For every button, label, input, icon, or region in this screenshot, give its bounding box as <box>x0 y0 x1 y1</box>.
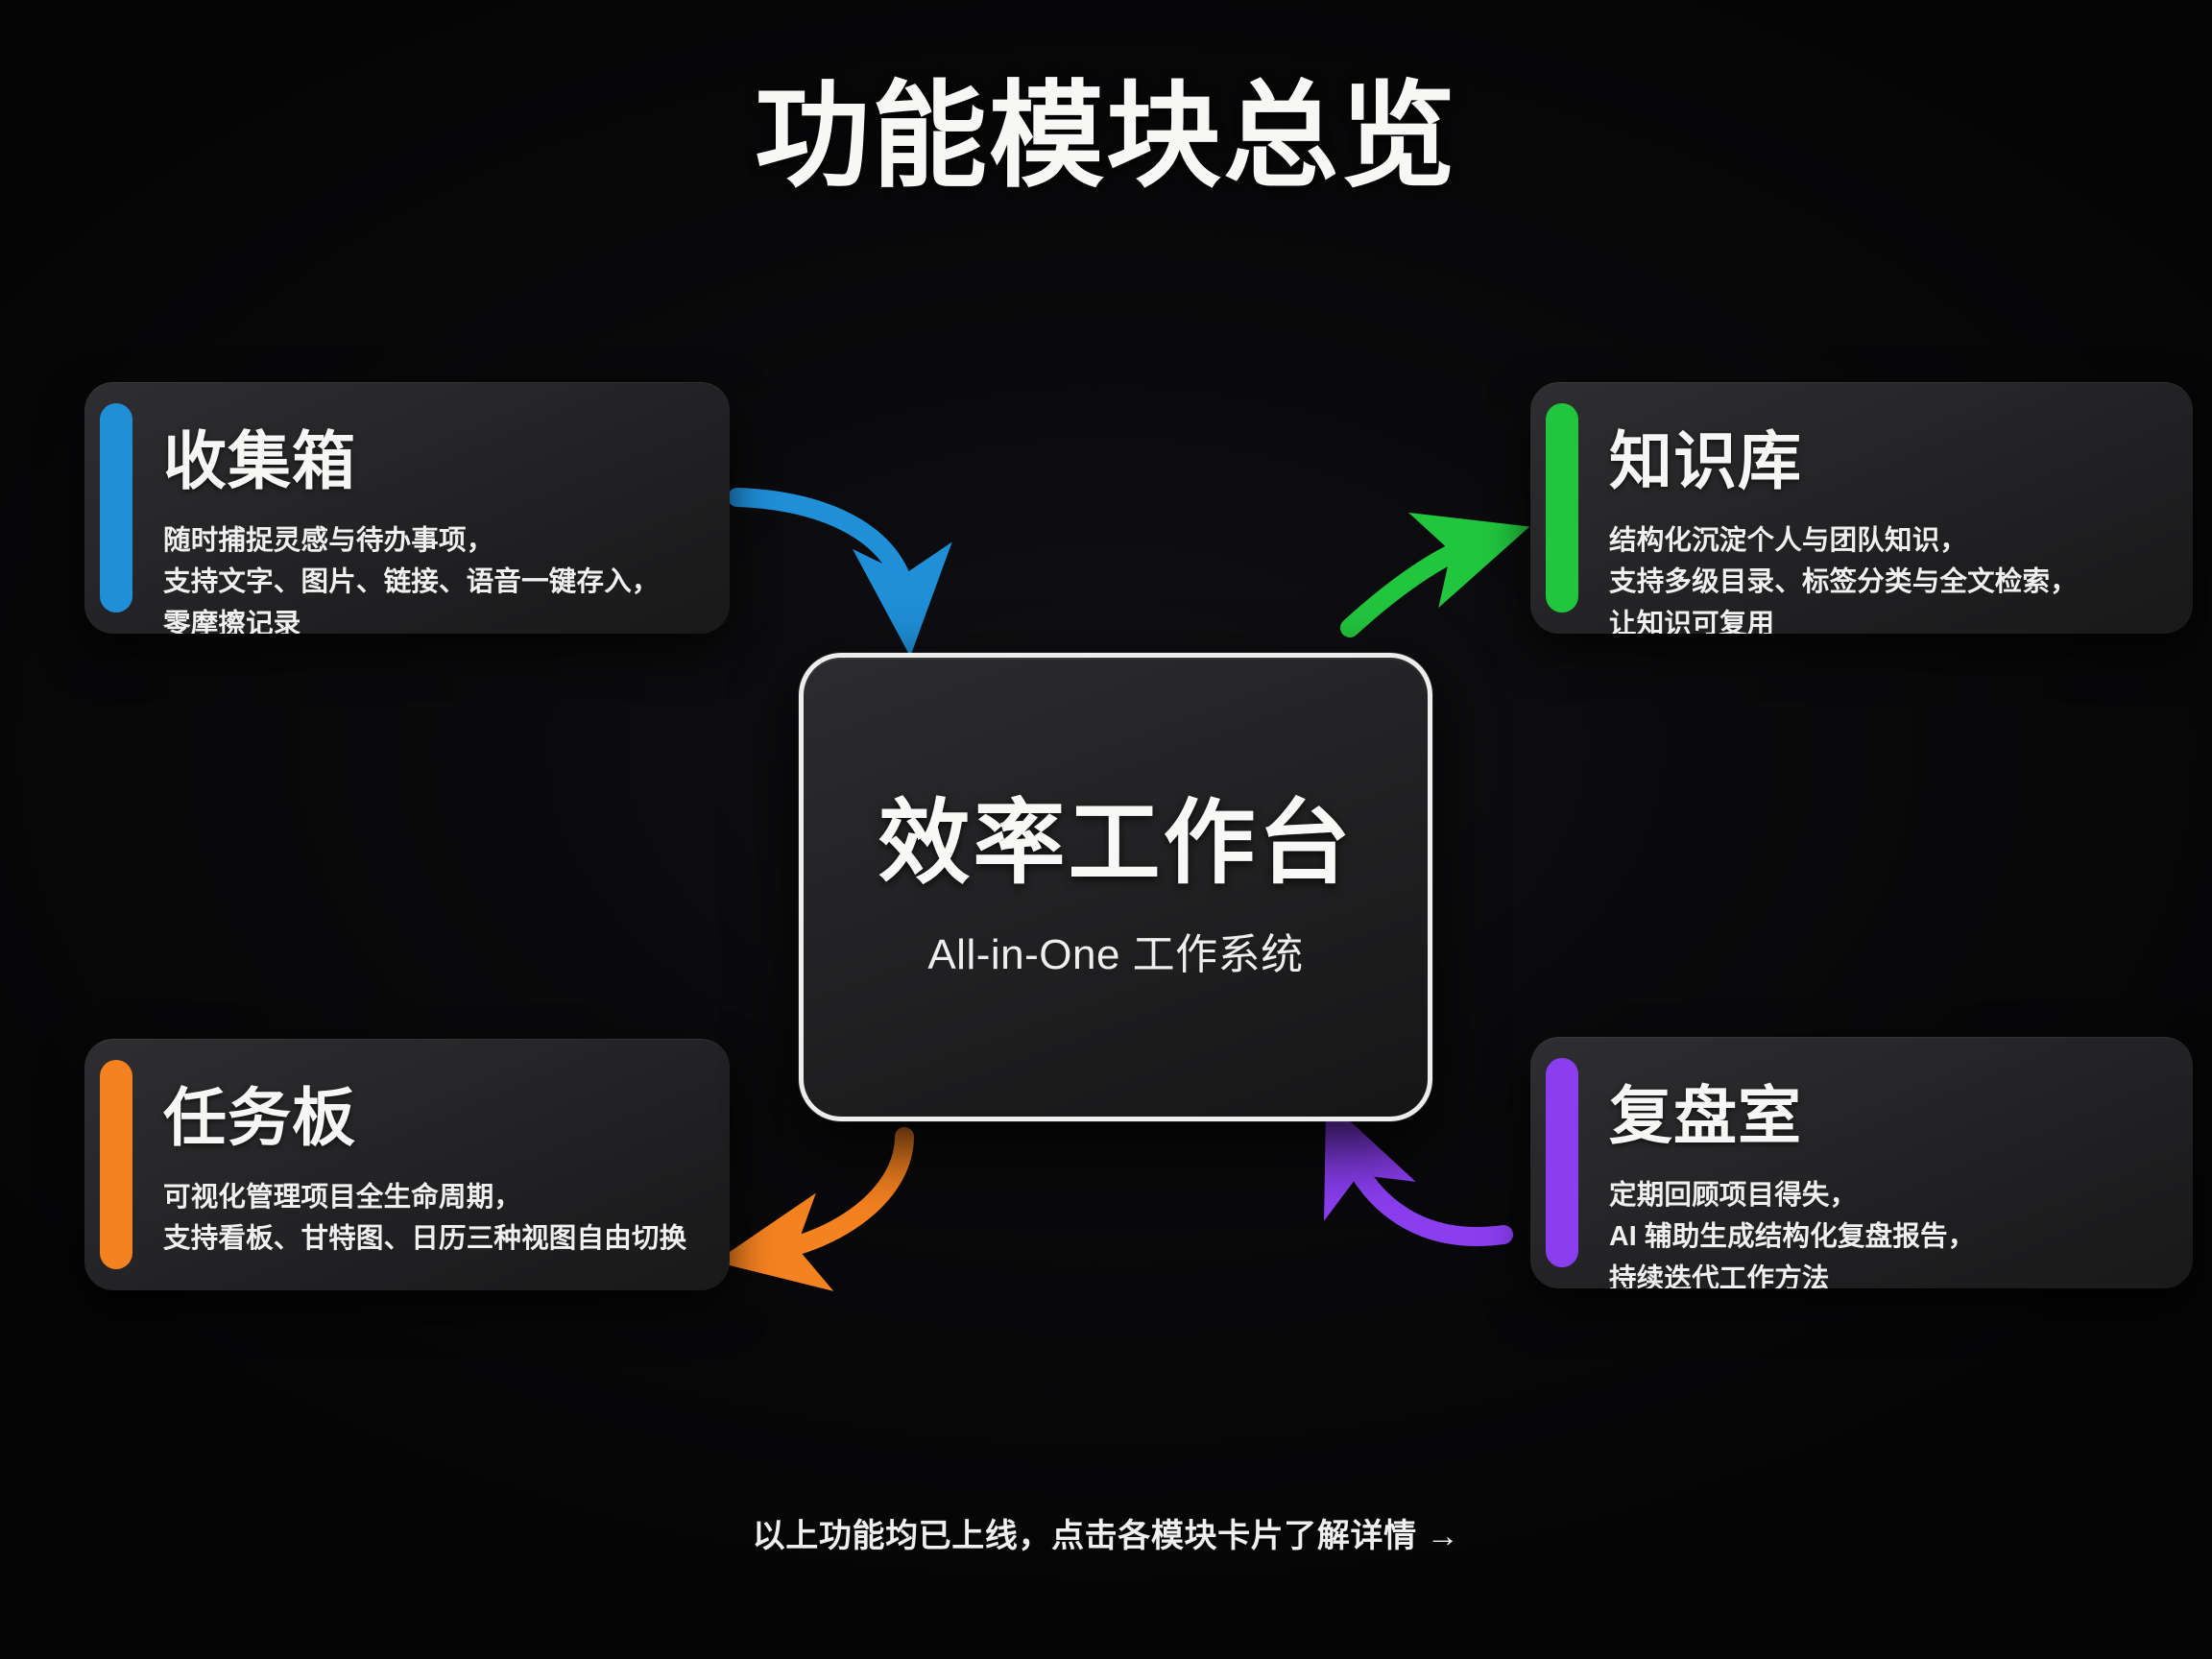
accent-bar-review <box>1546 1058 1578 1267</box>
card-description-review: 定期回顾项目得失， AI 辅助生成结构化复盘报告， 持续迭代工作方法 <box>1609 1175 2151 1288</box>
module-card-review[interactable]: 复盘室 定期回顾项目得失， AI 辅助生成结构化复盘报告， 持续迭代工作方法 <box>1530 1037 2193 1288</box>
arrow-hub-to-knowledge <box>1350 543 1477 628</box>
card-description-knowledge: 结构化沉淀个人与团队知识， 支持多级目录、标签分类与全文检索， 让知识可复用 <box>1609 520 2151 634</box>
accent-bar-tasks <box>100 1060 132 1269</box>
arrow-review-to-hub <box>1348 1150 1503 1237</box>
accent-bar-inbox <box>100 403 132 613</box>
card-title-inbox: 收集箱 <box>163 428 687 495</box>
arrow-hub-to-tasks <box>770 1137 904 1252</box>
footer-note: 以上功能均已上线，点击各模块卡片了解详情 → <box>0 1509 2212 1556</box>
card-title-tasks: 任务板 <box>163 1085 687 1152</box>
hub-subtitle: All-in-One 工作系统 <box>927 920 1303 981</box>
poster-canvas: 功能模块总览 收集箱 随时捕捉灵感与待办事项， <box>0 0 2212 1659</box>
hub-title: 效率工作台 <box>878 793 1354 895</box>
module-card-tasks[interactable]: 任务板 可视化管理项目全生命周期， 支持看板、甘特图、日历三种视图自由切换 <box>84 1039 730 1290</box>
module-card-knowledge[interactable]: 知识库 结构化沉淀个人与团队知识， 支持多级目录、标签分类与全文检索， 让知识可… <box>1530 382 2193 634</box>
hub-card[interactable]: 效率工作台 All-in-One 工作系统 <box>799 653 1432 1121</box>
accent-bar-knowledge <box>1546 403 1578 613</box>
arrow-inbox-to-hub <box>737 497 906 601</box>
card-title-review: 复盘室 <box>1609 1083 2151 1150</box>
card-description-inbox: 随时捕捉灵感与待办事项， 支持文字、图片、链接、语音一键存入， 零摩擦记录 <box>163 520 687 634</box>
card-title-knowledge: 知识库 <box>1609 428 2151 495</box>
card-description-tasks: 可视化管理项目全生命周期， 支持看板、甘特图、日历三种视图自由切换 <box>163 1177 687 1261</box>
page-title: 功能模块总览 <box>0 69 2212 205</box>
module-card-inbox[interactable]: 收集箱 随时捕捉灵感与待办事项， 支持文字、图片、链接、语音一键存入， 零摩擦记… <box>84 382 730 634</box>
